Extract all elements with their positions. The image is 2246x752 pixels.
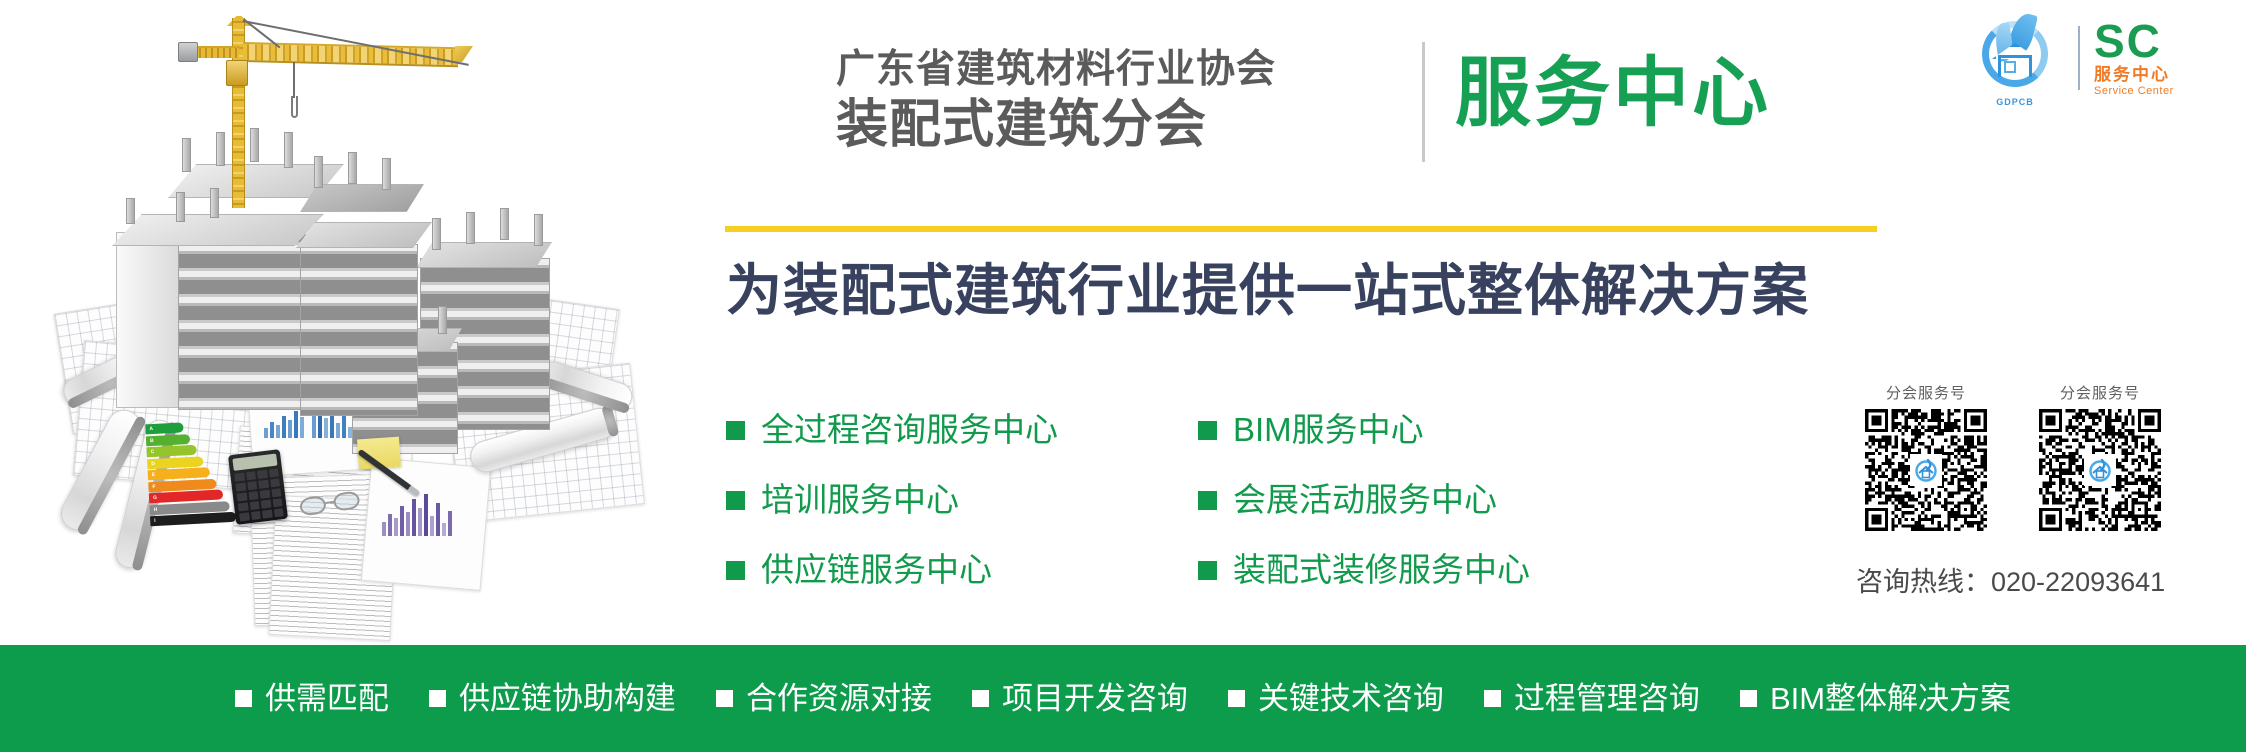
list-item[interactable]: 培训服务中心 bbox=[726, 482, 1058, 518]
bottom-service-bar: 供需匹配 供应链协助构建 合作资源对接 项目开发咨询 关键技术咨询 过程管理咨询… bbox=[0, 645, 2246, 752]
list-item[interactable]: 会展活动服务中心 bbox=[1198, 482, 1530, 518]
banner-root: A B C D E F G H I 广东省建筑材料行业协会 装配式建筑分会 bbox=[0, 0, 2246, 752]
square-bullet-icon bbox=[726, 491, 745, 510]
page-headline: 为装配式建筑行业提供一站式整体解决方案 bbox=[726, 258, 1896, 324]
square-bullet-icon bbox=[1198, 561, 1217, 580]
building-column bbox=[210, 188, 219, 218]
gdpcb-abbreviation: GDPCB bbox=[1966, 97, 2064, 107]
bottom-bar-item[interactable]: 供应链协助构建 bbox=[429, 682, 676, 716]
service-centers-list: 全过程咨询服务中心 培训服务中心 供应链服务中心 BIM服务中心 会展活动服务中… bbox=[726, 412, 1806, 588]
square-bullet-icon bbox=[429, 690, 446, 707]
square-bullet-icon bbox=[1198, 421, 1217, 440]
square-bullet-icon bbox=[972, 690, 989, 707]
calculator bbox=[228, 449, 288, 525]
qr-code-label: 分会服务号 bbox=[2030, 382, 2170, 403]
building-column bbox=[126, 198, 135, 224]
bottom-bar-item[interactable]: 合作资源对接 bbox=[716, 682, 932, 716]
bottom-bar-label: 供应链协助构建 bbox=[459, 682, 676, 716]
logo-divider bbox=[2078, 26, 2080, 90]
building-main-center bbox=[300, 244, 418, 416]
bottom-bar-label: 合作资源对接 bbox=[746, 682, 932, 716]
bottom-bar-label: 项目开发咨询 bbox=[1002, 682, 1188, 716]
list-item-label: 供应链服务中心 bbox=[761, 552, 992, 588]
crane-jib-tip bbox=[455, 46, 473, 62]
service-center-title: 服务中心 bbox=[1455, 52, 1771, 136]
building-column bbox=[500, 208, 509, 240]
crane-operator-cab bbox=[226, 60, 248, 86]
building-column bbox=[466, 212, 475, 244]
building-column bbox=[314, 156, 323, 188]
square-bullet-icon bbox=[1484, 690, 1501, 707]
logo-group: GDPCB SC 服务中心 Service Center bbox=[1966, 8, 2234, 108]
qr-code-block: 分会服务号 分会服务号 bbox=[1856, 382, 2226, 531]
association-name: 广东省建筑材料行业协会 bbox=[836, 48, 1436, 92]
branch-name: 装配式建筑分会 bbox=[836, 96, 1436, 154]
qr-code-image[interactable] bbox=[2039, 409, 2161, 531]
bottom-bar-item[interactable]: 项目开发咨询 bbox=[972, 682, 1188, 716]
square-bullet-icon bbox=[235, 690, 252, 707]
crane-counterweight bbox=[178, 42, 198, 62]
qr-code-item[interactable]: 分会服务号 bbox=[2030, 382, 2170, 531]
square-bullet-icon bbox=[1740, 690, 1757, 707]
building-column bbox=[216, 132, 225, 166]
crane-hook bbox=[291, 96, 298, 118]
square-bullet-icon bbox=[716, 690, 733, 707]
sc-logo: SC 服务中心 Service Center bbox=[2094, 18, 2174, 98]
bottom-bar-item[interactable]: 供需匹配 bbox=[235, 682, 389, 716]
building-column bbox=[534, 214, 543, 246]
bottom-bar-label: 关键技术咨询 bbox=[1258, 682, 1444, 716]
square-bullet-icon bbox=[1198, 491, 1217, 510]
building-left-facade bbox=[116, 232, 182, 408]
square-bullet-icon bbox=[1228, 690, 1245, 707]
list-item[interactable]: BIM服务中心 bbox=[1198, 412, 1530, 448]
building-roof-slab bbox=[112, 214, 324, 246]
list-item-label: 会展活动服务中心 bbox=[1233, 482, 1497, 518]
title-divider bbox=[1422, 42, 1425, 162]
sc-chinese-label: 服务中心 bbox=[2094, 65, 2174, 85]
building-column bbox=[382, 158, 391, 190]
building-main-left bbox=[178, 218, 306, 410]
qr-code-label: 分会服务号 bbox=[1856, 382, 1996, 403]
gdpcb-logo-icon: GDPCB bbox=[1966, 9, 2064, 107]
list-item[interactable]: 装配式装修服务中心 bbox=[1198, 552, 1530, 588]
bottom-bar-item[interactable]: 过程管理咨询 bbox=[1484, 682, 1700, 716]
bar-chart-purple bbox=[382, 490, 452, 536]
bottom-bar-label: 供需匹配 bbox=[265, 682, 389, 716]
bottom-bar-item[interactable]: BIM整体解决方案 bbox=[1740, 682, 2011, 716]
list-item-label: 培训服务中心 bbox=[761, 482, 959, 518]
building-roof-slab bbox=[300, 184, 424, 212]
logo-house-window bbox=[2004, 61, 2016, 73]
bottom-bar-item[interactable]: 关键技术咨询 bbox=[1228, 682, 1444, 716]
building-column bbox=[432, 218, 441, 250]
construction-illustration: A B C D E F G H I bbox=[0, 0, 660, 645]
qr-code-row: 分会服务号 分会服务号 bbox=[1856, 382, 2226, 531]
logo-house-icon bbox=[1992, 43, 2038, 73]
building-column bbox=[348, 152, 357, 184]
list-item-label: 装配式装修服务中心 bbox=[1233, 552, 1530, 588]
list-item-label: BIM服务中心 bbox=[1233, 412, 1424, 448]
building-roof-slab bbox=[296, 222, 432, 248]
bottom-bar-label: 过程管理咨询 bbox=[1514, 682, 1700, 716]
service-column-left: 全过程咨询服务中心 培训服务中心 供应链服务中心 bbox=[726, 412, 1058, 588]
qr-code-image[interactable] bbox=[1865, 409, 1987, 531]
bottom-bar-label: BIM整体解决方案 bbox=[1770, 682, 2011, 716]
square-bullet-icon bbox=[726, 421, 745, 440]
list-item[interactable]: 供应链服务中心 bbox=[726, 552, 1058, 588]
building-column bbox=[250, 128, 259, 162]
service-column-right: BIM服务中心 会展活动服务中心 装配式装修服务中心 bbox=[1198, 412, 1530, 588]
crane-hoist-line bbox=[293, 62, 295, 98]
square-bullet-icon bbox=[726, 561, 745, 580]
energy-label-chart: A B C D E F G H I bbox=[145, 420, 239, 534]
list-item-label: 全过程咨询服务中心 bbox=[761, 412, 1058, 448]
calculator-keys bbox=[234, 468, 284, 521]
qr-center-logo-icon bbox=[2084, 454, 2116, 486]
gold-divider-rule bbox=[725, 226, 1877, 232]
sc-english-label: Service Center bbox=[2094, 85, 2174, 98]
association-title: 广东省建筑材料行业协会 装配式建筑分会 bbox=[836, 48, 1436, 154]
hotline-text: 咨询热线：020-22093641 bbox=[1856, 560, 2236, 599]
list-item[interactable]: 全过程咨询服务中心 bbox=[726, 412, 1058, 448]
building-column bbox=[182, 138, 191, 172]
qr-center-logo-icon bbox=[1910, 454, 1942, 486]
building-column bbox=[438, 306, 447, 334]
qr-code-item[interactable]: 分会服务号 bbox=[1856, 382, 1996, 531]
building-column bbox=[176, 192, 185, 222]
sc-letters: SC bbox=[2094, 18, 2174, 64]
building-column bbox=[284, 132, 293, 168]
